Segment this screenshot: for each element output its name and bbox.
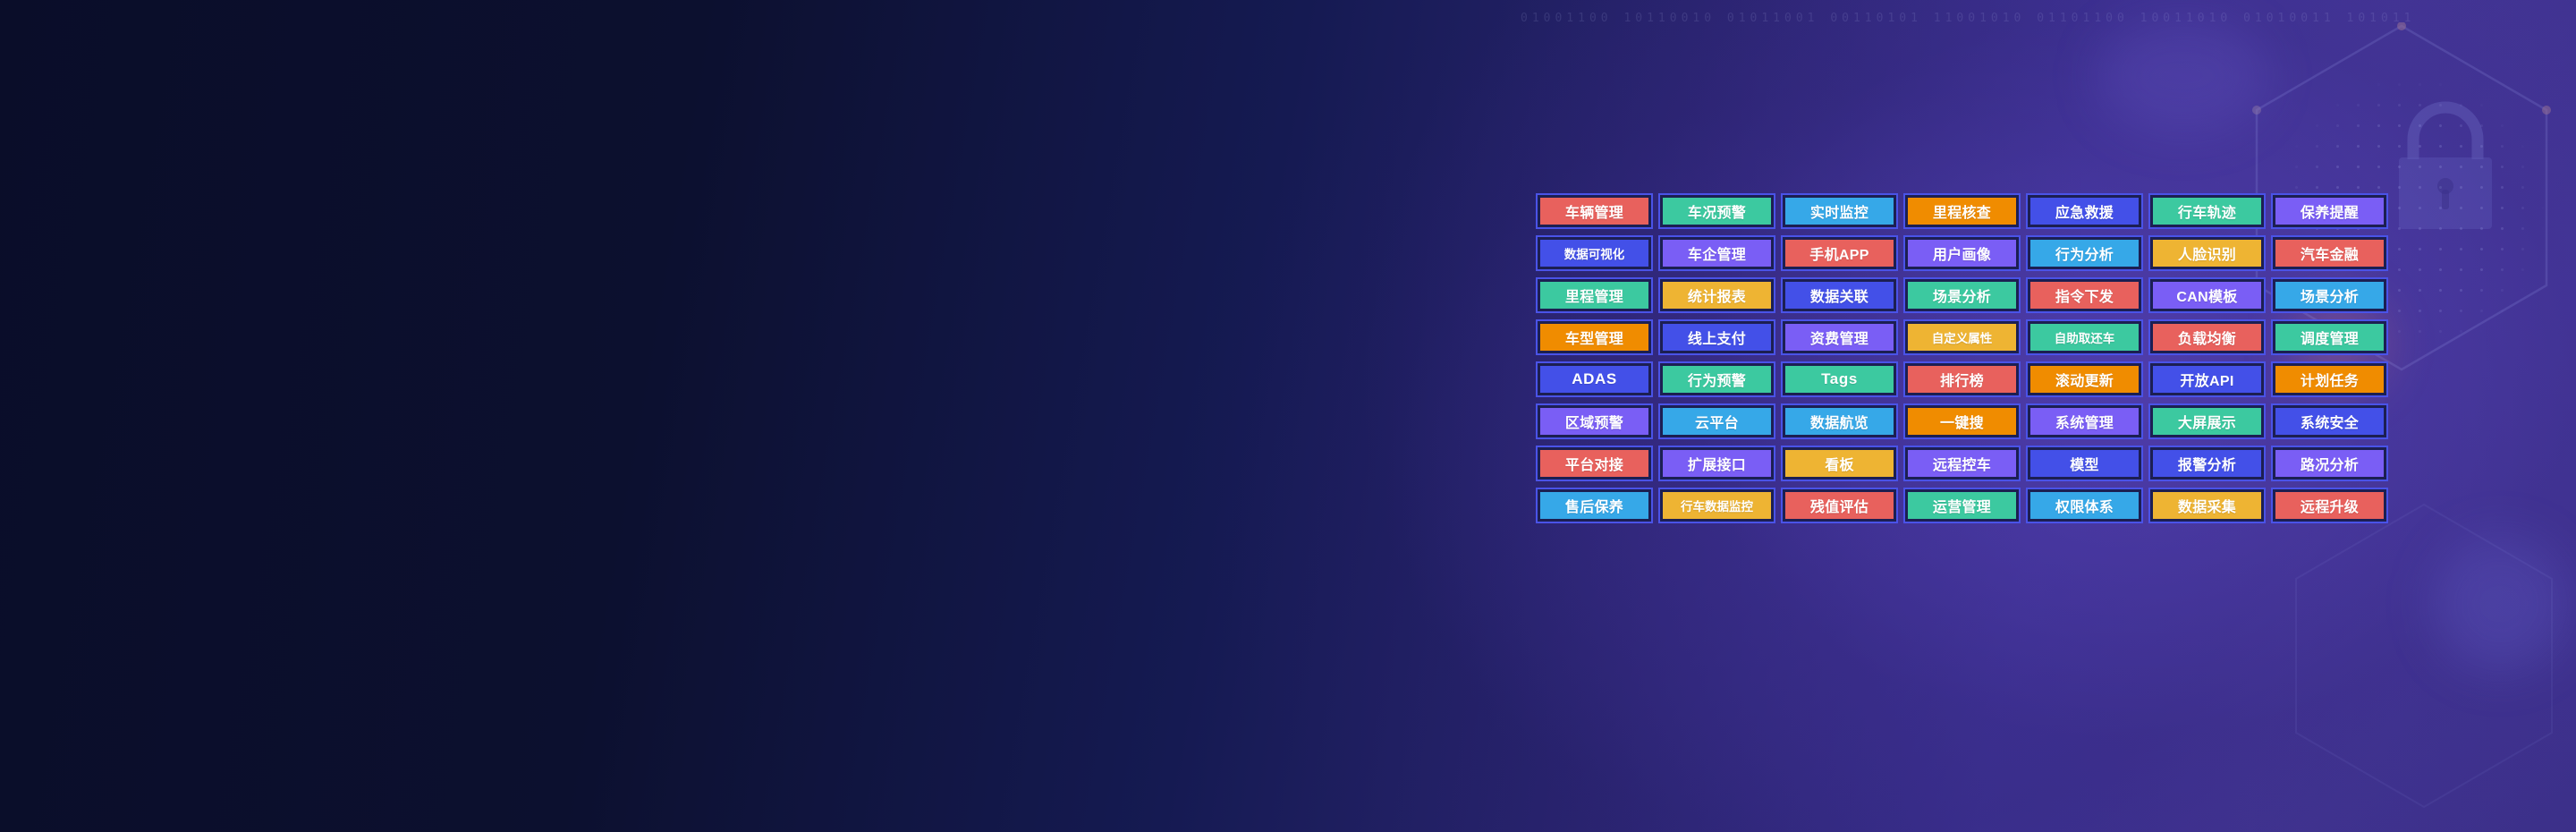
feature-tile-label: 实时监控 xyxy=(1785,198,1894,225)
feature-tile[interactable]: 资费管理 xyxy=(1781,319,1898,355)
feature-tile[interactable]: 应急救援 xyxy=(2026,193,2143,229)
feature-tile[interactable]: 自定义属性 xyxy=(1903,319,2021,355)
feature-tile[interactable]: 权限体系 xyxy=(2026,488,2143,523)
feature-tile-label: 数据可视化 xyxy=(1540,240,1648,267)
feature-tile[interactable]: Tags xyxy=(1781,361,1898,397)
feature-tile-label: 车况预警 xyxy=(1663,198,1771,225)
tile-row: 区域预警云平台数据航览一键搜系统管理大屏展示系统安全 xyxy=(1536,403,2388,439)
feature-tile-label: 远程升级 xyxy=(2275,492,2384,519)
hexagon-secondary-icon xyxy=(2290,501,2558,811)
feature-tile[interactable]: 线上支付 xyxy=(1658,319,1775,355)
feature-tile-label: 计划任务 xyxy=(2275,366,2384,393)
feature-tile-label: 汽车金融 xyxy=(2275,240,2384,267)
feature-tile[interactable]: 残值评估 xyxy=(1781,488,1898,523)
feature-tile[interactable]: 里程核查 xyxy=(1903,193,2021,229)
feature-tile-label: 里程管理 xyxy=(1540,282,1648,309)
feature-tile-label: 看板 xyxy=(1785,450,1894,477)
feature-tile-label: 调度管理 xyxy=(2275,324,2384,351)
feature-tile-label: 运营管理 xyxy=(1908,492,2016,519)
feature-tile-label: CAN模板 xyxy=(2153,282,2261,309)
feature-tile-label: 行车数据监控 xyxy=(1663,492,1771,519)
feature-tile-label: 里程核查 xyxy=(1908,198,2016,225)
feature-tile[interactable]: 开放API xyxy=(2148,361,2266,397)
feature-tile[interactable]: 云平台 xyxy=(1658,403,1775,439)
feature-tile[interactable]: 模型 xyxy=(2026,446,2143,481)
tile-row: 平台对接扩展接口看板远程控车模型报警分析路况分析 xyxy=(1536,446,2388,481)
feature-tile-label: 售后保养 xyxy=(1540,492,1648,519)
feature-tile[interactable]: 行为分析 xyxy=(2026,235,2143,271)
feature-tile-label: 用户画像 xyxy=(1908,240,2016,267)
feature-tile[interactable]: 实时监控 xyxy=(1781,193,1898,229)
feature-tile[interactable]: 大屏展示 xyxy=(2148,403,2266,439)
feature-tile-label: Tags xyxy=(1785,366,1894,393)
feature-tile-label: 路况分析 xyxy=(2275,450,2384,477)
feature-tile[interactable]: 场景分析 xyxy=(1903,277,2021,313)
feature-tile-label: 数据关联 xyxy=(1785,282,1894,309)
feature-tile[interactable]: 车辆管理 xyxy=(1536,193,1653,229)
feature-tile-label: 行为分析 xyxy=(2030,240,2139,267)
feature-tile-label: 统计报表 xyxy=(1663,282,1771,309)
feature-tile-label: 手机APP xyxy=(1785,240,1894,267)
feature-tile-label: 车企管理 xyxy=(1663,240,1771,267)
feature-tile-label: 行为预警 xyxy=(1663,366,1771,393)
feature-tile-label: 一键搜 xyxy=(1908,408,2016,435)
feature-tile-label: 保养提醒 xyxy=(2275,198,2384,225)
feature-tile[interactable]: 行车数据监控 xyxy=(1658,488,1775,523)
feature-tile[interactable]: 扩展接口 xyxy=(1658,446,1775,481)
feature-tile[interactable]: 汽车金融 xyxy=(2271,235,2388,271)
feature-tile-label: 线上支付 xyxy=(1663,324,1771,351)
feature-tile[interactable]: 手机APP xyxy=(1781,235,1898,271)
feature-tile[interactable]: 系统安全 xyxy=(2271,403,2388,439)
feature-tile[interactable]: 滚动更新 xyxy=(2026,361,2143,397)
feature-tile-label: 数据采集 xyxy=(2153,492,2261,519)
feature-tile[interactable]: 数据可视化 xyxy=(1536,235,1653,271)
feature-tile-label: 远程控车 xyxy=(1908,450,2016,477)
feature-tile-label: 云平台 xyxy=(1663,408,1771,435)
lock-icon xyxy=(2386,100,2504,234)
feature-tile[interactable]: 指令下发 xyxy=(2026,277,2143,313)
feature-tile-label: 场景分析 xyxy=(1908,282,2016,309)
feature-tile-label: 平台对接 xyxy=(1540,450,1648,477)
feature-tile[interactable]: 看板 xyxy=(1781,446,1898,481)
feature-tile[interactable]: 运营管理 xyxy=(1903,488,2021,523)
feature-tile[interactable]: 路况分析 xyxy=(2271,446,2388,481)
feature-tile-label: 行车轨迹 xyxy=(2153,198,2261,225)
feature-tile[interactable]: 远程升级 xyxy=(2271,488,2388,523)
binary-stream-decoration: 01001100 10110010 01011001 00110101 1100… xyxy=(1521,9,2415,188)
feature-tile-label: 区域预警 xyxy=(1540,408,1648,435)
feature-tile-label: 系统管理 xyxy=(2030,408,2139,435)
tile-row: ADAS行为预警Tags排行榜滚动更新开放API计划任务 xyxy=(1536,361,2388,397)
feature-tile-label: 数据航览 xyxy=(1785,408,1894,435)
feature-tile[interactable]: 一键搜 xyxy=(1903,403,2021,439)
feature-tile-label: 大屏展示 xyxy=(2153,408,2261,435)
feature-tile[interactable]: 场景分析 xyxy=(2271,277,2388,313)
feature-tile-grid: 车辆管理车况预警实时监控里程核查应急救援行车轨迹保养提醒数据可视化车企管理手机A… xyxy=(1536,193,2388,523)
feature-tile[interactable]: 平台对接 xyxy=(1536,446,1653,481)
background-glow-cool xyxy=(2433,537,2567,671)
feature-tile[interactable]: 售后保养 xyxy=(1536,488,1653,523)
feature-tile[interactable]: 数据采集 xyxy=(2148,488,2266,523)
feature-tile-label: 模型 xyxy=(2030,450,2139,477)
feature-tile-label: 自定义属性 xyxy=(1908,324,2016,351)
tile-row: 里程管理统计报表数据关联场景分析指令下发CAN模板场景分析 xyxy=(1536,277,2388,313)
feature-tile[interactable]: 行为预警 xyxy=(1658,361,1775,397)
feature-tile-label: 系统安全 xyxy=(2275,408,2384,435)
feature-tile[interactable]: 车况预警 xyxy=(1658,193,1775,229)
feature-tile-label: ADAS xyxy=(1540,366,1648,393)
feature-tile[interactable]: 调度管理 xyxy=(2271,319,2388,355)
feature-tile-label: 车型管理 xyxy=(1540,324,1648,351)
tile-row: 车型管理线上支付资费管理自定义属性自助取还车负载均衡调度管理 xyxy=(1536,319,2388,355)
feature-tile-label: 资费管理 xyxy=(1785,324,1894,351)
tile-row: 售后保养行车数据监控残值评估运营管理权限体系数据采集远程升级 xyxy=(1536,488,2388,523)
feature-tile[interactable]: 负载均衡 xyxy=(2148,319,2266,355)
screen-root: 01001100 10110010 01011001 00110101 1100… xyxy=(0,0,2576,832)
feature-tile-label: 权限体系 xyxy=(2030,492,2139,519)
feature-tile-label: 场景分析 xyxy=(2275,282,2384,309)
feature-tile[interactable]: 保养提醒 xyxy=(2271,193,2388,229)
feature-tile[interactable]: CAN模板 xyxy=(2148,277,2266,313)
feature-tile[interactable]: 远程控车 xyxy=(1903,446,2021,481)
feature-tile[interactable]: 车型管理 xyxy=(1536,319,1653,355)
feature-tile[interactable]: 人脸识别 xyxy=(2148,235,2266,271)
feature-tile-label: 自助取还车 xyxy=(2030,324,2139,351)
feature-tile[interactable]: 自助取还车 xyxy=(2026,319,2143,355)
feature-tile-label: 滚动更新 xyxy=(2030,366,2139,393)
feature-tile[interactable]: 区域预警 xyxy=(1536,403,1653,439)
feature-tile[interactable]: ADAS xyxy=(1536,361,1653,397)
feature-tile[interactable]: 报警分析 xyxy=(2148,446,2266,481)
feature-tile-label: 人脸识别 xyxy=(2153,240,2261,267)
background-glow-top xyxy=(2097,18,2267,134)
feature-tile-label: 指令下发 xyxy=(2030,282,2139,309)
feature-tile[interactable]: 用户画像 xyxy=(1903,235,2021,271)
feature-tile-label: 排行榜 xyxy=(1908,366,2016,393)
tile-row: 车辆管理车况预警实时监控里程核查应急救援行车轨迹保养提醒 xyxy=(1536,193,2388,229)
feature-tile-label: 报警分析 xyxy=(2153,450,2261,477)
feature-tile[interactable]: 计划任务 xyxy=(2271,361,2388,397)
feature-tile-label: 残值评估 xyxy=(1785,492,1894,519)
feature-tile[interactable]: 数据航览 xyxy=(1781,403,1898,439)
feature-tile-label: 开放API xyxy=(2153,366,2261,393)
tile-row: 数据可视化车企管理手机APP用户画像行为分析人脸识别汽车金融 xyxy=(1536,235,2388,271)
feature-tile[interactable]: 统计报表 xyxy=(1658,277,1775,313)
feature-tile-label: 应急救援 xyxy=(2030,198,2139,225)
feature-tile-label: 负载均衡 xyxy=(2153,324,2261,351)
feature-tile-label: 扩展接口 xyxy=(1663,450,1771,477)
feature-tile-label: 车辆管理 xyxy=(1540,198,1648,225)
feature-tile[interactable]: 排行榜 xyxy=(1903,361,2021,397)
feature-tile[interactable]: 数据关联 xyxy=(1781,277,1898,313)
feature-tile[interactable]: 系统管理 xyxy=(2026,403,2143,439)
feature-tile[interactable]: 行车轨迹 xyxy=(2148,193,2266,229)
feature-tile[interactable]: 里程管理 xyxy=(1536,277,1653,313)
feature-tile[interactable]: 车企管理 xyxy=(1658,235,1775,271)
